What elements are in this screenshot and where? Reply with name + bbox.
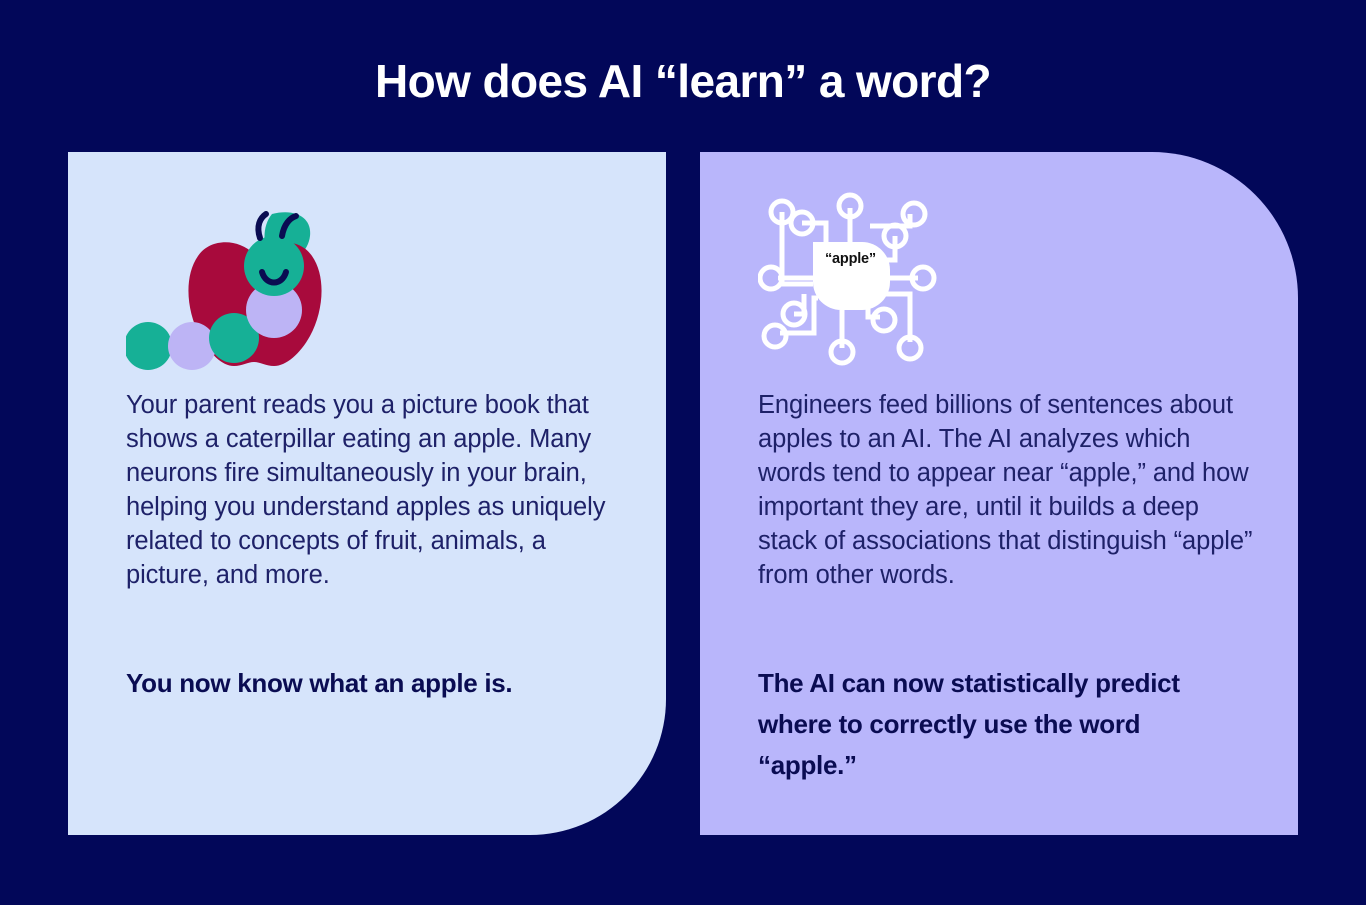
caterpillar-head: [244, 236, 304, 296]
card-ai-learning-content: “apple” Engineers feed billions of sente…: [758, 152, 1258, 835]
caterpillar-eating-apple-illustration: [126, 194, 386, 394]
card-ai-learning: “apple” Engineers feed billions of sente…: [700, 152, 1298, 835]
card-ai-learning-conclusion: The AI can now statistically predict whe…: [758, 663, 1238, 786]
ai-chip-circuit-illustration: “apple”: [758, 190, 943, 370]
page-title: How does AI “learn” a word?: [0, 56, 1366, 107]
card-human-learning-conclusion: You now know what an apple is.: [126, 663, 616, 704]
card-ai-learning-body: Engineers feed billions of sentences abo…: [758, 388, 1258, 592]
caterpillar-segment: [168, 322, 216, 370]
chip-label: “apple”: [813, 251, 888, 267]
card-human-learning-content: Your parent reads you a picture book tha…: [126, 152, 626, 835]
caterpillar-segment: [126, 322, 172, 370]
card-human-learning: Your parent reads you a picture book tha…: [68, 152, 666, 835]
card-human-learning-body: Your parent reads you a picture book tha…: [126, 388, 616, 592]
